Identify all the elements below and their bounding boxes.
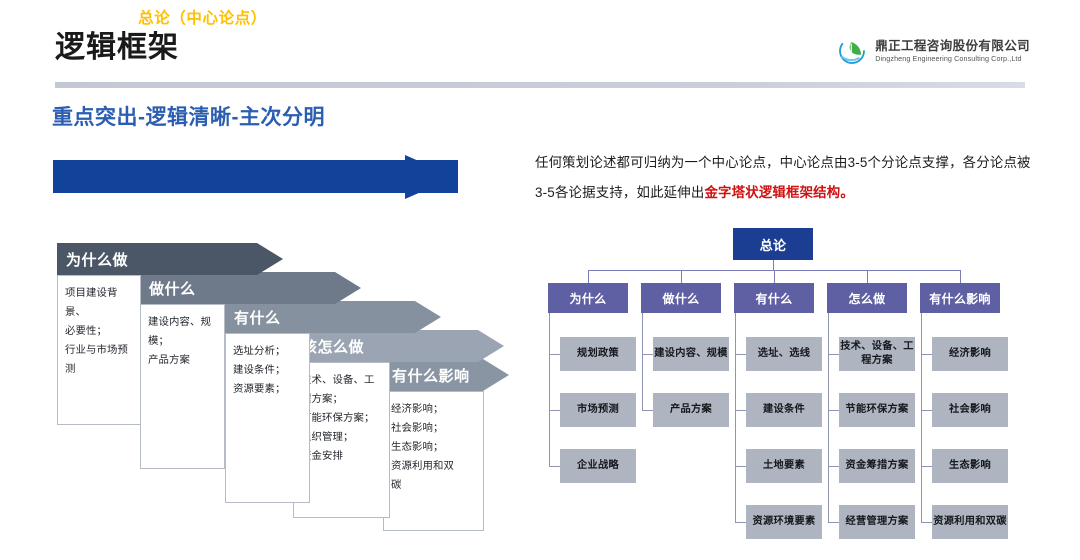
- tree-leaf-node[interactable]: 技术、设备、工程方案: [839, 337, 915, 371]
- connector-line: [921, 410, 932, 411]
- staircase-step-body: 选址分析；建设条件；资源要素；: [225, 333, 310, 503]
- connector-line: [867, 270, 868, 283]
- tree-leaf-node[interactable]: 社会影响: [932, 393, 1008, 427]
- tree-branch-node-1[interactable]: 为什么: [548, 283, 628, 313]
- tree-leaf-node[interactable]: 经济影响: [932, 337, 1008, 371]
- staircase-item: 建设内容、规模；: [148, 313, 217, 351]
- tree-leaf-node[interactable]: 建设内容、规模: [653, 337, 729, 371]
- connector-line: [828, 410, 839, 411]
- connector-line: [773, 260, 774, 270]
- staircase-item: 程方案；: [301, 390, 382, 409]
- connector-line: [642, 410, 653, 411]
- tree-leaf-node[interactable]: 经营管理方案: [839, 505, 915, 539]
- staircase-item: 资源要素；: [233, 380, 302, 399]
- connector-line: [735, 410, 746, 411]
- connector-line: [735, 313, 736, 522]
- staircase-item: 碳: [391, 476, 476, 495]
- tree-leaf-node[interactable]: 产品方案: [653, 393, 729, 427]
- staircase-step-header: 该怎么做: [293, 330, 478, 362]
- staircase-arrow-tip: [483, 359, 509, 391]
- staircase-item: 节能环保方案；: [301, 409, 382, 428]
- connector-line: [549, 410, 560, 411]
- staircase-item: 资金安排: [301, 447, 382, 466]
- staircase-step-header: 有什么影响: [383, 359, 483, 391]
- connector-line: [828, 354, 839, 355]
- tree-leaf-node[interactable]: 节能环保方案: [839, 393, 915, 427]
- staircase-step-header: 有什么: [225, 301, 415, 333]
- staircase-item: 必要性；: [65, 322, 133, 341]
- connector-line: [681, 270, 682, 283]
- tree-branch-node-2[interactable]: 做什么: [641, 283, 721, 313]
- tree-leaf-node[interactable]: 土地要素: [746, 449, 822, 483]
- connector-line: [921, 466, 932, 467]
- tree-root-node[interactable]: 总论: [733, 228, 813, 260]
- connector-line: [921, 313, 922, 522]
- connector-line: [828, 522, 839, 523]
- staircase-item: 建设条件；: [233, 361, 302, 380]
- connector-line: [921, 354, 932, 355]
- connector-line: [642, 354, 653, 355]
- staircase-arrow-tip: [415, 301, 441, 333]
- staircase-item: 行业与市场预测: [65, 341, 133, 379]
- connector-line: [588, 270, 589, 283]
- tree-leaf-node[interactable]: 规划政策: [560, 337, 636, 371]
- staircase-item: 组织管理；: [301, 428, 382, 447]
- staircase-item: 技术、设备、工: [301, 371, 382, 390]
- staircase-step-body: 建设内容、规模；产品方案: [140, 304, 225, 469]
- staircase-step-header: 做什么: [140, 272, 335, 304]
- staircase-step-header: 为什么做: [57, 243, 257, 275]
- tree-leaf-node[interactable]: 选址、选线: [746, 337, 822, 371]
- connector-line: [735, 522, 746, 523]
- tree-leaf-node[interactable]: 市场预测: [560, 393, 636, 427]
- staircase-item: 经济影响；: [391, 400, 476, 419]
- connector-line: [921, 522, 932, 523]
- staircase-item: 选址分析；: [233, 342, 302, 361]
- connector-line: [828, 466, 839, 467]
- staircase-item: 资源利用和双: [391, 457, 476, 476]
- connector-line: [960, 270, 961, 283]
- connector-line: [642, 313, 643, 410]
- staircase-step-body: 项目建设背景、必要性；行业与市场预测: [57, 275, 141, 425]
- banner-label: 总论（中心论点）: [0, 0, 405, 33]
- staircase-step-body: 经济影响；社会影响；生态影响；资源利用和双碳: [383, 391, 484, 531]
- tree-leaf-node[interactable]: 建设条件: [746, 393, 822, 427]
- staircase-arrow-tip: [257, 243, 283, 275]
- staircase-item: 项目建设背景、: [65, 284, 133, 322]
- connector-line: [549, 466, 560, 467]
- tree-branch-node-3[interactable]: 有什么: [734, 283, 814, 313]
- tree-leaf-node[interactable]: 企业战略: [560, 449, 636, 483]
- connector-line: [549, 313, 550, 466]
- connector-line: [828, 313, 829, 522]
- staircase-item: 社会影响；: [391, 419, 476, 438]
- tree-leaf-node[interactable]: 资源环境要素: [746, 505, 822, 539]
- tree-leaf-node[interactable]: 资源利用和双碳: [932, 505, 1008, 539]
- connector-line: [735, 466, 746, 467]
- tree-branch-node-5[interactable]: 有什么影响: [920, 283, 1000, 313]
- tree-leaf-node[interactable]: 生态影响: [932, 449, 1008, 483]
- staircase-arrow-tip: [335, 272, 361, 304]
- connector-line: [549, 354, 560, 355]
- connector-line: [774, 270, 775, 283]
- staircase-item: 产品方案: [148, 351, 217, 370]
- staircase-arrow-tip: [478, 330, 504, 362]
- tree-branch-node-4[interactable]: 怎么做: [827, 283, 907, 313]
- slide-canvas: 逻辑框架 鼎正工程咨询股份有限公司 Dingzheng Engineering …: [0, 0, 1080, 560]
- staircase-item: 生态影响；: [391, 438, 476, 457]
- tree-leaf-node[interactable]: 资金筹措方案: [839, 449, 915, 483]
- connector-line: [735, 354, 746, 355]
